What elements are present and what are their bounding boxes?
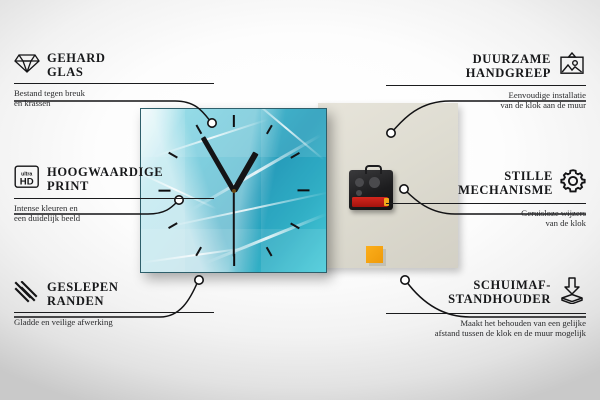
feature-subtitle-line1: Intense kleuren en (14, 203, 214, 214)
feature-subtitle-line2: van de klok (386, 218, 586, 229)
feature-title-line1: SCHUIMAF- (448, 279, 551, 293)
divider (386, 85, 586, 86)
feature-duurzame-handgreep[interactable]: DUURZAME HANDGREEP Eenvoudige installati… (386, 52, 586, 111)
feature-subtitle-line1: Eenvoudige installatie (386, 90, 586, 101)
feature-subtitle-line1: Bestand tegen breuk (14, 88, 214, 99)
feature-hoogwaardige-print[interactable]: ultra HD HOOGWAARDIGE PRINT Intense kleu… (14, 165, 214, 224)
feature-title-line1: STILLE (458, 170, 553, 184)
divider (14, 312, 214, 313)
feature-subtitle-line2: van de klok aan de muur (386, 100, 586, 111)
diagonal-lines-icon (14, 281, 40, 308)
feature-title-line1: HOOGWAARDIGE (47, 166, 163, 180)
infographic-canvas: GEHARD GLAS Bestand tegen breuk en krass… (0, 0, 600, 400)
feature-title-line2: GLAS (47, 66, 105, 80)
feature-subtitle-line2: en krassen (14, 98, 214, 109)
clock-tick (232, 115, 234, 127)
foam-spacer (366, 246, 383, 263)
feature-title-line2: STANDHOUDER (448, 293, 551, 307)
feature-stille-mechanisme[interactable]: STILLE MECHANISME Geruisloze wijzers van… (386, 168, 586, 229)
feature-gehard-glas[interactable]: GEHARD GLAS Bestand tegen breuk en krass… (14, 52, 214, 109)
feature-title-line1: GEHARD (47, 52, 105, 66)
feature-title-line2: MECHANISME (458, 184, 553, 198)
feature-title-line1: DUURZAME (466, 53, 551, 67)
gear-icon (560, 168, 586, 199)
svg-text:HD: HD (20, 176, 34, 187)
second-hand (233, 191, 235, 257)
clock-shaft (365, 165, 382, 174)
feature-subtitle-line2: een duidelijk beeld (14, 213, 214, 224)
feature-subtitle-line2: afstand tussen de klok en de muur mogeli… (386, 328, 586, 339)
feature-subtitle-line1: Geruisloze wijzers (386, 208, 586, 219)
feature-subtitle-line1: Maakt het behouden van een gelijke (386, 318, 586, 329)
feature-title-line2: RANDEN (47, 295, 119, 309)
divider (14, 198, 214, 199)
divider (386, 313, 586, 314)
ultra-hd-icon: ultra HD (14, 165, 40, 194)
clock-center-cap (232, 189, 236, 193)
feature-geslepen-randen[interactable]: GESLEPEN RANDEN Gladde en veilige afwerk… (14, 281, 214, 327)
feature-title-line1: GESLEPEN (47, 281, 119, 295)
feature-title-line2: HANDGREEP (466, 67, 551, 81)
feature-subtitle-line1: Gladde en veilige afwerking (14, 317, 214, 328)
picture-frame-icon (558, 52, 586, 81)
clock-tick (297, 189, 309, 191)
divider (14, 83, 214, 84)
battery (352, 197, 388, 207)
feature-schuimafstandhouder[interactable]: SCHUIMAF- STANDHOUDER Maakt het behouden… (386, 276, 586, 339)
feature-title-line2: PRINT (47, 180, 163, 194)
diamond-icon (14, 52, 40, 79)
press-down-arrow-icon (558, 276, 586, 309)
divider (386, 203, 586, 204)
